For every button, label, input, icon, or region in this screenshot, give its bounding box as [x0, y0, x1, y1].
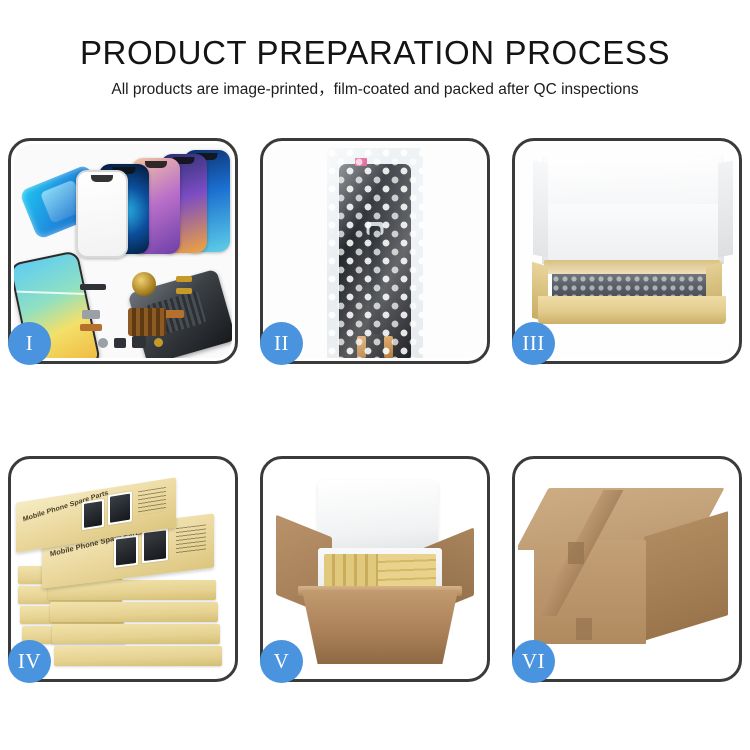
foam-lid-graphic: [318, 480, 438, 552]
step-badge-6: VI: [512, 640, 555, 683]
packing-tape-graphic: [568, 542, 584, 564]
step-image-open-kraft-tray-with-foam: [518, 144, 736, 358]
step-badge-3: III: [512, 322, 555, 365]
phone-glass-graphic: [76, 170, 128, 258]
bubble-wrap-bag-graphic: [327, 148, 423, 358]
step-panel-4[interactable]: Mobile Phone Spare Parts Mobile Phone Sp…: [8, 456, 238, 682]
step-image-stacked-spare-parts-boxes: Mobile Phone Spare Parts Mobile Phone Sp…: [14, 462, 232, 676]
step-panel-3[interactable]: III: [512, 138, 742, 364]
foam-sheet-graphic: [548, 204, 718, 266]
kraft-tray-graphic: [538, 296, 726, 324]
step-badge-1: I: [8, 322, 51, 365]
packing-tape-graphic: [576, 618, 592, 640]
page-title: PRODUCT PREPARATION PROCESS: [0, 34, 750, 72]
step-badge-5: V: [260, 640, 303, 683]
step-image-phone-screens-and-spare-parts: [14, 144, 232, 358]
step-badge-2: II: [260, 322, 303, 365]
step-image-open-carton-with-boxes: [266, 462, 484, 676]
step-badge-4: IV: [8, 640, 51, 683]
step-panel-5[interactable]: V: [260, 456, 490, 682]
process-steps-grid: I II: [8, 138, 742, 682]
carton-body-graphic: [302, 590, 458, 664]
page-subtitle: All products are image-printed，film-coat…: [0, 79, 750, 101]
step-image-screen-sealed-in-bubble-wrap: [266, 144, 484, 358]
step-image-sealed-shipping-carton: [518, 462, 736, 676]
step-panel-2[interactable]: II: [260, 138, 490, 364]
step-panel-6[interactable]: VI: [512, 456, 742, 682]
step-panel-1[interactable]: I: [8, 138, 238, 364]
page-header: PRODUCT PREPARATION PROCESS All products…: [0, 0, 750, 101]
spare-parts-cluster-graphic: [80, 274, 220, 356]
